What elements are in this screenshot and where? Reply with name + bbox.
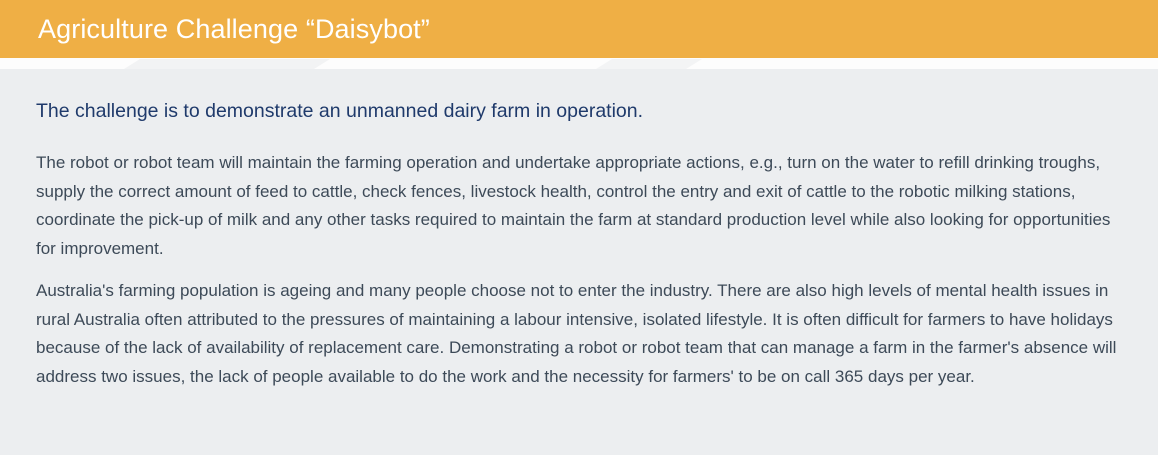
page-title: Agriculture Challenge “Daisybot” (38, 13, 430, 45)
header-band: Agriculture Challenge “Daisybot” (0, 0, 1158, 58)
paragraph-motivation: Australia's farming population is ageing… (36, 277, 1121, 391)
challenge-statement: The challenge is to demonstrate an unman… (36, 98, 1126, 124)
slide-container: Agriculture Challenge “Daisybot” The cha… (0, 0, 1158, 455)
decorative-diagonal-ribbon-right (590, 59, 702, 69)
content-area: The challenge is to demonstrate an unman… (0, 69, 1158, 455)
paragraph-robot-tasks: The robot or robot team will maintain th… (36, 149, 1121, 263)
header-underline-strip (0, 58, 1158, 69)
decorative-diagonal-ribbon-left (118, 59, 330, 69)
